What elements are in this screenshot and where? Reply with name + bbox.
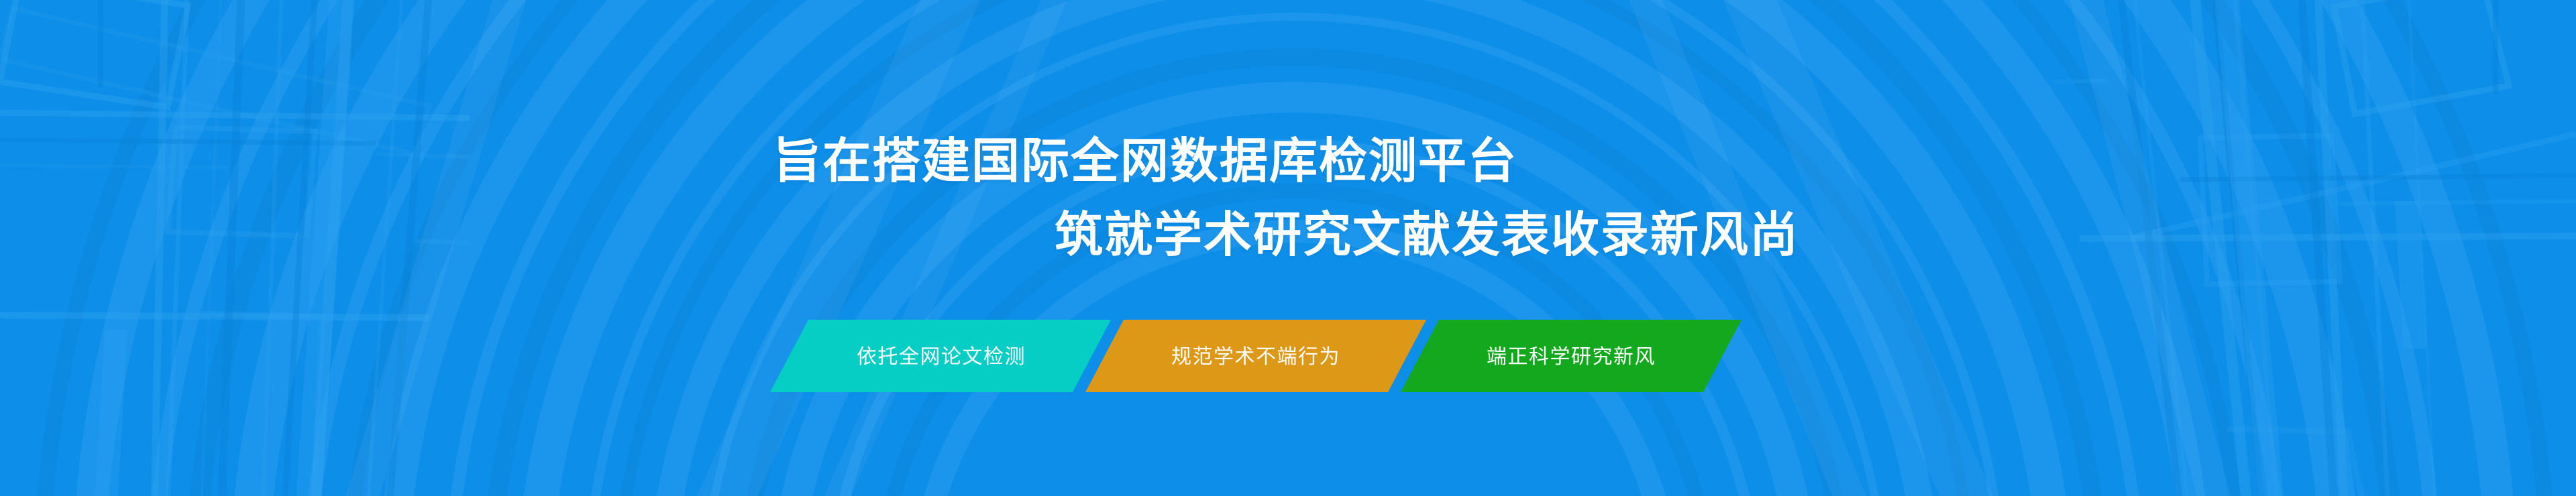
headline-line-2: 筑就学术研究文献发表收录新风尚: [1055, 198, 2576, 272]
tag-item-2[interactable]: 规范学术不端行为: [1085, 320, 1426, 392]
headline-line-1: 旨在搭建国际全网数据库检测平台: [773, 125, 2576, 198]
tag-label-2: 规范学术不端行为: [1171, 346, 1340, 368]
tag-label-3: 端正科学研究新风: [1487, 346, 1656, 368]
tag-item-1[interactable]: 依托全网论文检测: [770, 320, 1111, 392]
promo-banner: 旨在搭建国际全网数据库检测平台 筑就学术研究文献发表收录新风尚 依托全网论文检测…: [0, 0, 2576, 496]
headline-block: 旨在搭建国际全网数据库检测平台 筑就学术研究文献发表收录新风尚: [0, 125, 2576, 272]
tag-item-3[interactable]: 端正科学研究新风: [1401, 320, 1741, 392]
tag-label-1: 依托全网论文检测: [857, 346, 1026, 368]
feature-tag-banner: 依托全网论文检测 规范学术不端行为 端正科学研究新风: [770, 320, 1809, 392]
